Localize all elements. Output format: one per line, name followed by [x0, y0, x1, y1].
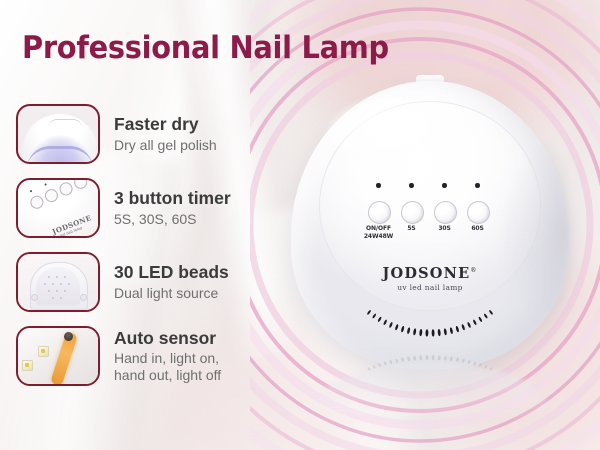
feature-item-button-timer: JODSONE uv led nail lamp 3 button timer …	[16, 171, 278, 245]
feature-heading: 3 button timer	[114, 189, 231, 209]
feature-subtext: Hand in, light on,	[114, 350, 221, 367]
feature-item-faster-dry: Faster dry Dry all gel polish	[16, 97, 278, 171]
feature-subtext: Dual light source	[114, 285, 229, 302]
auto-sensor-thumbnail	[16, 326, 100, 386]
control-panel-thumbnail: JODSONE uv led nail lamp	[16, 178, 100, 238]
page-title: Professional Nail Lamp	[22, 30, 389, 66]
feature-list: Faster dry Dry all gel polish	[16, 97, 278, 393]
lamp-glow-thumbnail	[16, 104, 100, 164]
feature-heading: 30 LED beads	[114, 263, 229, 283]
lamp-reflection-slots	[275, 75, 585, 435]
feature-subtext: 5S, 30S, 60S	[114, 211, 231, 228]
nail-lamp-product: ON/OFF 24W48W 5S 30S 60S JODSONE® uv led…	[275, 75, 585, 395]
feature-heading: Auto sensor	[114, 329, 221, 349]
product-poster: Professional Nail Lamp Faster dry Dry al…	[0, 0, 600, 450]
feature-subtext: Dry all gel polish	[114, 137, 217, 154]
feature-item-auto-sensor: Auto sensor Hand in, light on, hand out,…	[16, 319, 278, 393]
feature-heading: Faster dry	[114, 115, 217, 135]
feature-item-led-beads: 30 LED beads Dual light source	[16, 245, 278, 319]
feature-subtext-line2: hand out, light off	[114, 367, 221, 384]
led-dome-thumbnail	[16, 252, 100, 312]
